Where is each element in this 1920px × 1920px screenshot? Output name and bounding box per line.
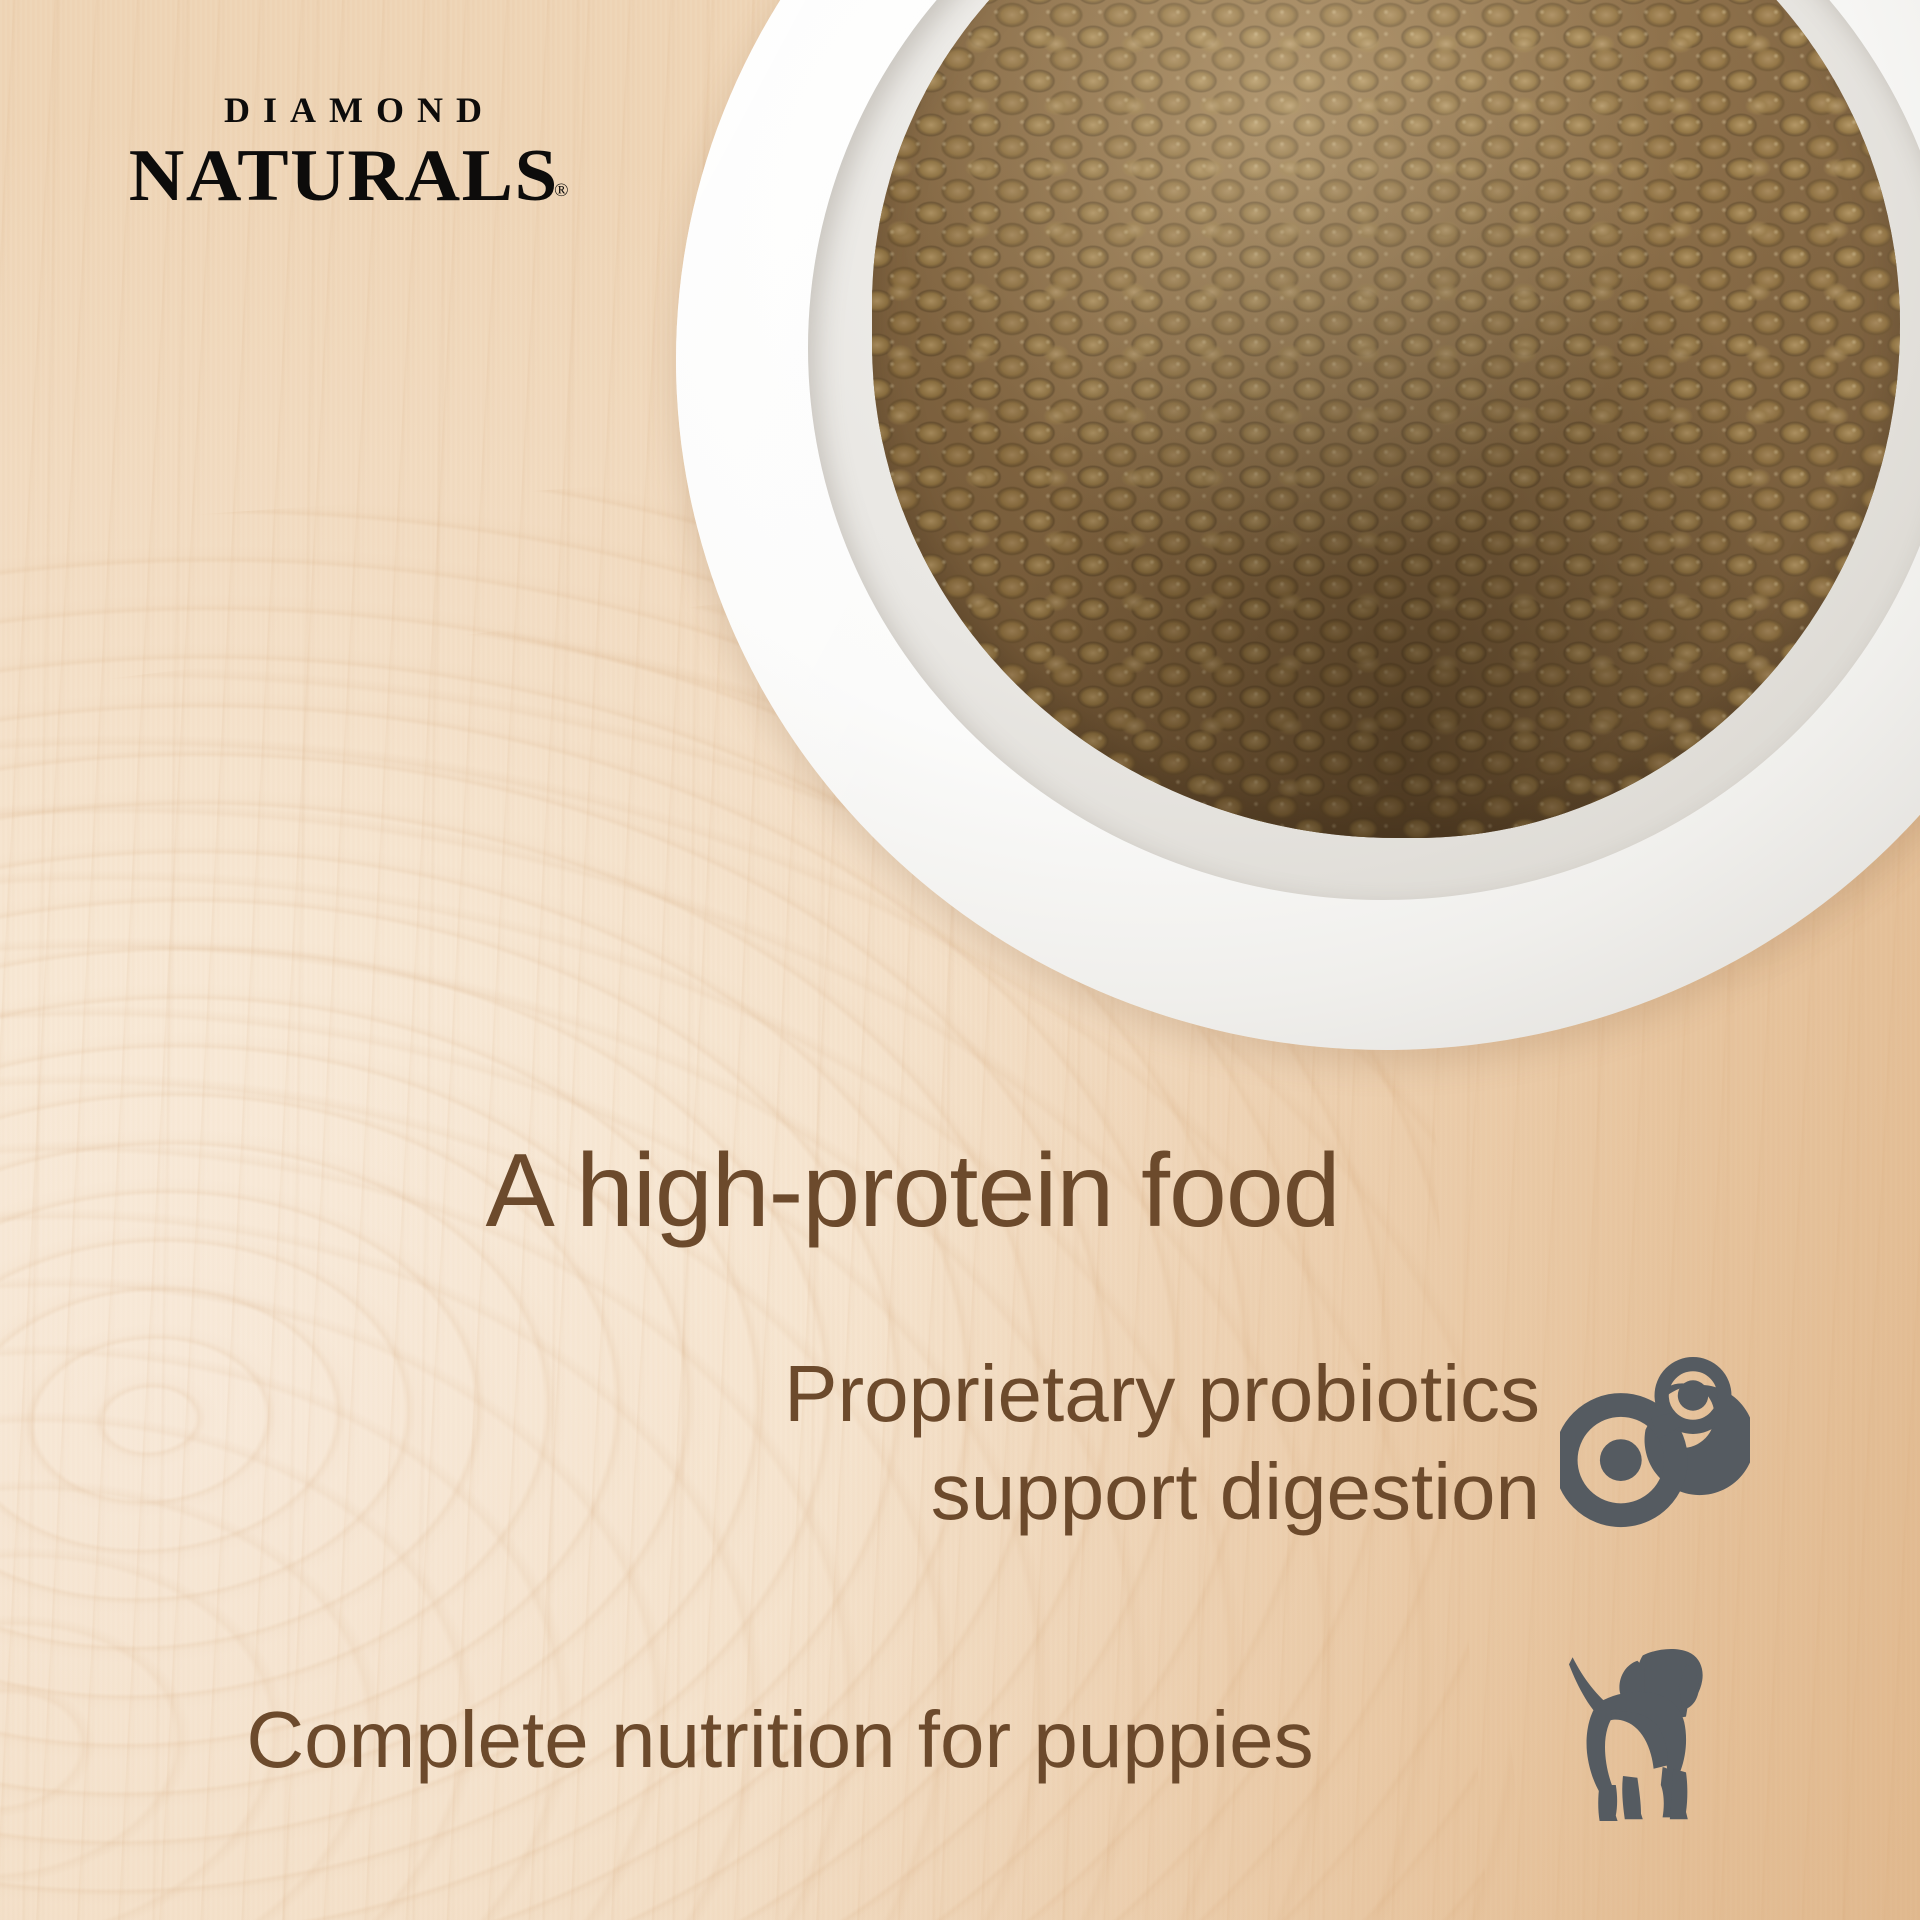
brand-name-naturals: NATURALS (129, 139, 559, 213)
feature-label-puppies: Complete nutrition for puppies (0, 1691, 1560, 1789)
wood-warm-overlay (0, 0, 1920, 1920)
brand-name-naturals-row: NATURALS® (118, 139, 588, 213)
probiotic-cells-icon (1560, 1348, 1750, 1538)
feature-row-probiotics: Proprietary probiotics support digestion (0, 1345, 1920, 1540)
page-title: A high-protein food (0, 1132, 1825, 1251)
feature-label-probiotics: Proprietary probiotics support digestion (0, 1345, 1560, 1540)
brand-name-diamond: DIAMOND (118, 92, 588, 128)
brand-logo: DIAMOND NATURALS® (118, 92, 588, 213)
icon-slot-probiotics (1560, 1348, 1820, 1538)
feature-row-puppies: Complete nutrition for puppies (0, 1640, 1920, 1840)
puppy-silhouette-icon (1560, 1640, 1740, 1840)
icon-slot-puppies (1560, 1640, 1820, 1840)
product-feature-card: DIAMOND NATURALS® A high-protein food Pr… (0, 0, 1920, 1920)
